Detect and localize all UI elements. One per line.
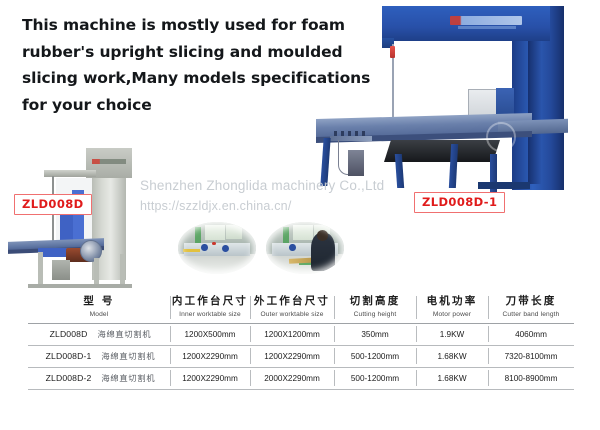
machine-leg	[38, 252, 43, 286]
photo-vignette	[178, 222, 256, 274]
column-header-cn: 外工作台尺寸	[254, 295, 330, 308]
model-code: ZLD008D-2	[46, 373, 92, 383]
brand-logo-subtext	[458, 26, 516, 29]
column-header-en: Motor power	[433, 311, 471, 318]
column-header-en: Outer worktable size	[260, 311, 323, 318]
column-header-model: 型 号 Model	[28, 292, 170, 323]
brand-logo-icon	[92, 159, 126, 164]
cell-band-length: 7320-8100mm	[488, 346, 574, 367]
column-header-cn: 内工作台尺寸	[172, 295, 248, 308]
column-header-cn: 型 号	[83, 295, 114, 308]
column-header-motor-power: 电机功率 Motor power	[416, 292, 488, 323]
cell-model: ZLD008D-2 海绵直切割机	[28, 368, 170, 389]
column-header-outer-worktable: 外工作台尺寸 Outer worktable size	[250, 292, 334, 323]
table-row: ZLD008D 海绵直切割机 1200X500mm 1200X1200mm 35…	[28, 324, 574, 346]
column-header-en: Model	[90, 311, 109, 318]
cell-model: ZLD008D 海绵直切割机	[28, 324, 170, 345]
machine-base	[478, 182, 530, 189]
electrical-box	[348, 150, 364, 176]
model-name-cn: 海绵直切割机	[101, 350, 155, 362]
photo-vignette	[266, 222, 344, 274]
cell-motor-power: 1.9KW	[416, 324, 488, 345]
cell-outer-worktable: 1200X1200mm	[250, 324, 334, 345]
model-badge-left: ZLD008D	[14, 194, 92, 215]
cell-inner-worktable: 1200X2290mm	[170, 368, 250, 389]
cell-band-length: 4060mm	[488, 324, 574, 345]
cell-cutting-height: 350mm	[334, 324, 416, 345]
column-header-en: Cutter band length	[503, 311, 560, 318]
table-row: ZLD008D-2 海绵直切割机 1200X2290mm 2000X2290mm…	[28, 368, 574, 390]
column-header-cn: 切割高度	[350, 295, 401, 308]
cell-model: ZLD008D-1 海绵直切割机	[28, 346, 170, 367]
product-spec-page: This machine is mostly used for foam rub…	[0, 0, 600, 430]
column-header-cutter-band-length: 刀带长度 Cutter band length	[488, 292, 574, 323]
column-header-en: Cutting height	[354, 311, 397, 318]
machine-leg	[320, 138, 330, 186]
brand-logo-icon	[450, 16, 522, 25]
machine-leg	[449, 144, 458, 188]
model-code: ZLD008D	[50, 329, 88, 339]
model-badge-right: ZLD008D-1	[414, 192, 505, 213]
model-name-cn: 海绵直切割机	[97, 328, 151, 340]
model-code: ZLD008D-1	[46, 351, 92, 361]
cell-outer-worktable: 1200X2290mm	[250, 346, 334, 367]
specification-table: 型 号 Model 内工作台尺寸 Inner worktable size 外工…	[28, 292, 574, 390]
electrical-box	[52, 260, 70, 280]
workshop-machine-photo	[178, 222, 256, 274]
cell-cutting-height: 500-1200mm	[334, 346, 416, 367]
machine-base	[28, 284, 132, 288]
machine-leg	[94, 258, 99, 286]
column-header-cn: 电机功率	[427, 295, 478, 308]
cell-motor-power: 1.68KW	[416, 346, 488, 367]
column-header-inner-worktable: 内工作台尺寸 Inner worktable size	[170, 292, 250, 323]
cell-outer-worktable: 2000X2290mm	[250, 368, 334, 389]
cell-cutting-height: 500-1200mm	[334, 368, 416, 389]
table-row: ZLD008D-1 海绵直切割机 1200X2290mm 1200X2290mm…	[28, 346, 574, 368]
worker-operating-photo	[266, 222, 344, 274]
watermark-circle-icon	[486, 122, 516, 152]
model-name-cn: 海绵直切割机	[101, 372, 155, 384]
control-panel	[330, 136, 372, 141]
column-header-en: Inner worktable size	[179, 311, 241, 318]
cell-inner-worktable: 1200X500mm	[170, 324, 250, 345]
cell-inner-worktable: 1200X2290mm	[170, 346, 250, 367]
cell-motor-power: 1.68KW	[416, 368, 488, 389]
machine-image-zld008d	[8, 148, 140, 283]
cell-band-length: 8100-8900mm	[488, 368, 574, 389]
column-header-cn: 刀带长度	[506, 295, 557, 308]
machine-column-inner	[528, 34, 542, 184]
machine-leg	[120, 254, 125, 286]
page-title: This machine is mostly used for foam rub…	[22, 12, 394, 119]
column-header-cutting-height: 切割高度 Cutting height	[334, 292, 416, 323]
table-header-row: 型 号 Model 内工作台尺寸 Inner worktable size 外工…	[28, 292, 574, 324]
